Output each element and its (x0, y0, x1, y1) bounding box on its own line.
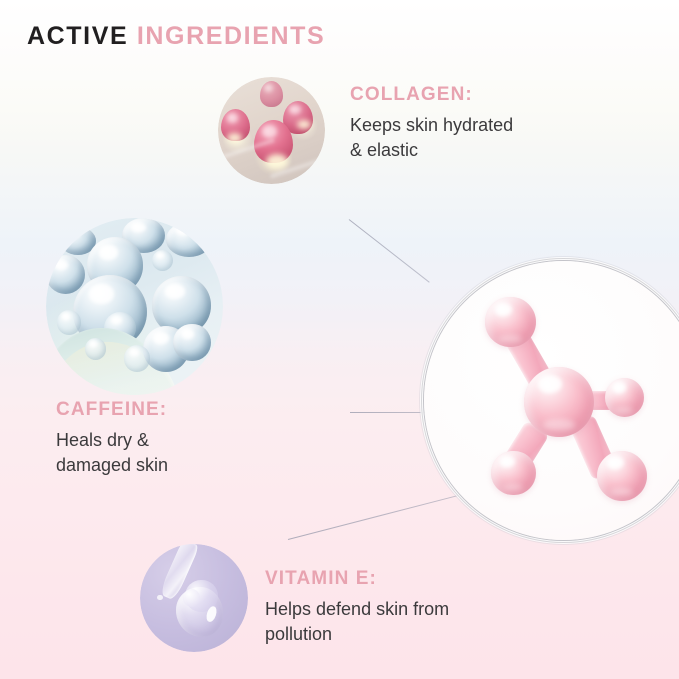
collagen-dome-back (260, 81, 284, 107)
ingredient-description-vitamin-e: Helps defend skin from pollution (265, 597, 449, 647)
ingredient-block-vitamin-e: VITAMIN E: Helps defend skin from pollut… (265, 568, 449, 647)
pipette-tip-icon (183, 589, 200, 606)
page-title-word-active: ACTIVE (27, 22, 128, 50)
molecule-atom-bottom-right (597, 451, 647, 501)
caffeine-bubbles-macro-icon (46, 218, 223, 395)
ingredient-label-caffeine: CAFFEINE: (56, 399, 168, 421)
bubble-faint-icon (152, 250, 173, 271)
bubble-icon (166, 222, 212, 257)
bubble-faint-icon (57, 310, 82, 335)
molecule-atom-bottom-left (491, 451, 536, 496)
connector-line-vitamin-e (288, 494, 463, 540)
bubble-icon (46, 255, 85, 294)
ingredient-block-caffeine: CAFFEINE: Heals dry & damaged skin (56, 399, 168, 478)
collagen-thumbnail-image (218, 77, 325, 184)
molecule-atom-center (524, 367, 594, 437)
collagen-dome-macro-icon (218, 77, 325, 184)
ingredient-description-collagen: Keeps skin hydrated & elastic (350, 113, 513, 163)
active-ingredients-infographic: ACTIVE INGREDIENTS (0, 0, 679, 679)
vitamin-e-dropper-serum-icon (140, 544, 248, 652)
vitamin-e-thumbnail-image (140, 544, 248, 652)
ingredient-block-collagen: COLLAGEN: Keeps skin hydrated & elastic (350, 84, 513, 163)
light-flare-icon (266, 154, 287, 169)
molecule-illustration-circle (424, 261, 679, 540)
bubble-icon (173, 324, 210, 361)
page-title-word-ingredients: INGREDIENTS (137, 22, 325, 50)
page-title: ACTIVE INGREDIENTS (27, 22, 325, 51)
molecule-atom-right (605, 378, 644, 417)
bubble-faint-icon (85, 338, 106, 359)
connector-line-caffeine (350, 412, 434, 413)
ingredient-label-vitamin-e: VITAMIN E: (265, 568, 449, 590)
ingredient-description-caffeine: Heals dry & damaged skin (56, 428, 168, 478)
molecule-atom-top-left (485, 297, 535, 347)
serum-speck-icon (157, 595, 162, 600)
connector-line-collagen (349, 219, 430, 283)
caffeine-thumbnail-image (46, 218, 223, 395)
light-flare-icon (227, 133, 242, 144)
ingredient-label-collagen: COLLAGEN: (350, 84, 513, 106)
